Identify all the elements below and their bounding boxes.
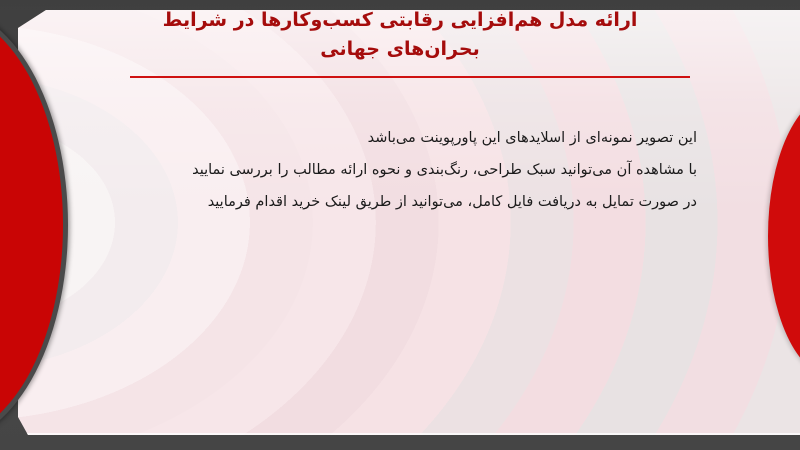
slide-body: این تصویر نمونه‌ای از اسلایدهای این پاور…	[60, 122, 697, 218]
slide-body-line-2: با مشاهده آن می‌توانید سبک طراحی، رنگ‌بن…	[60, 154, 697, 186]
slide-title-line-1: ارائه مدل هم‌افزایی رقابتی کسب‌وکارها در…	[0, 6, 800, 35]
red-ellipse-shape	[768, 95, 800, 377]
slide-body-line-3: در صورت تمایل به دریافت فایل کامل، می‌تو…	[60, 186, 697, 218]
slide-canvas: ارائه مدل هم‌افزایی رقابتی کسب‌وکارها در…	[0, 0, 800, 450]
slide-content-panel	[18, 10, 800, 435]
panel-light-wash	[18, 10, 800, 435]
title-underline-rule	[130, 76, 690, 78]
slide-title-line-2: بحران‌های جهانی	[0, 35, 800, 64]
slide-title: ارائه مدل هم‌افزایی رقابتی کسب‌وکارها در…	[0, 6, 800, 64]
slide-body-line-1: این تصویر نمونه‌ای از اسلایدهای این پاور…	[60, 122, 697, 154]
panel-bottom-highlight	[18, 433, 800, 435]
